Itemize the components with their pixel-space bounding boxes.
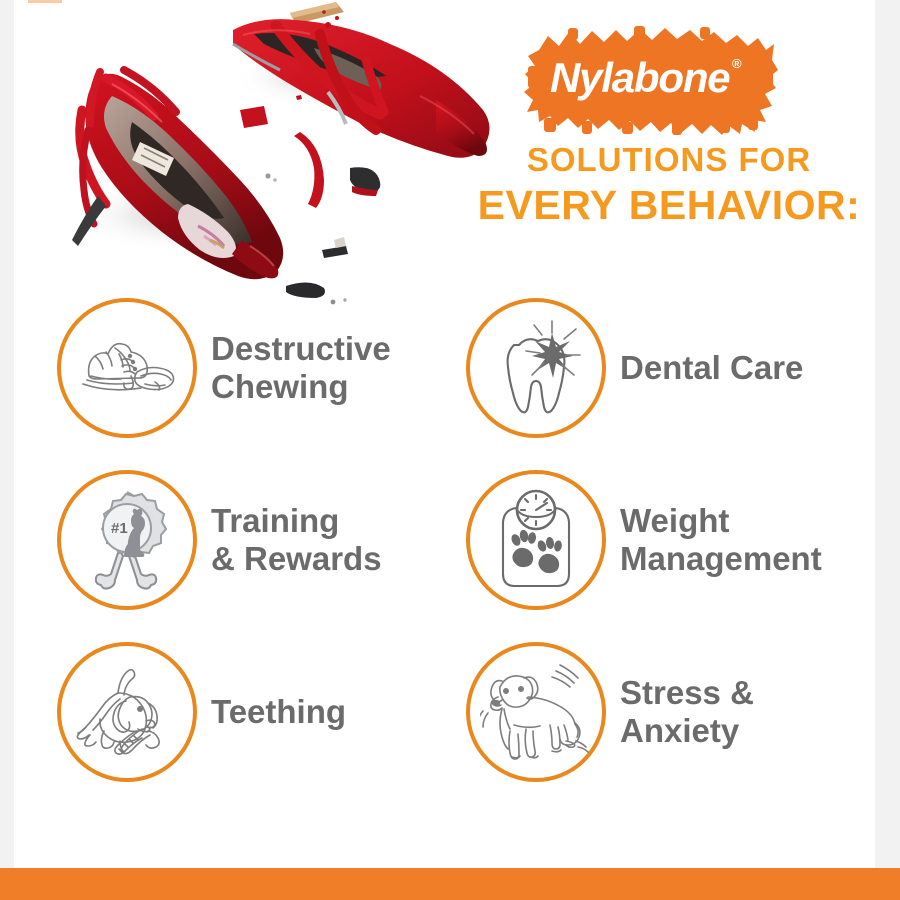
- top-orange-accent: [28, 0, 62, 3]
- rank-label: #1: [111, 520, 128, 537]
- benefit-destructive-chewing[interactable]: Destructive Chewing: [57, 298, 391, 438]
- content-card: Nylabone ® SOLUTIONS FOR EVERY BEHAVIOR:: [14, 0, 875, 868]
- benefit-icon-circle: [466, 298, 606, 438]
- headline-line-1: SOLUTIONS FOR: [444, 143, 894, 176]
- scale-dial: [517, 491, 555, 529]
- headline-line-2: EVERY BEHAVIOR:: [444, 185, 894, 226]
- benefit-label: Training & Rewards: [211, 502, 382, 578]
- puppy-chewing-icon: [74, 665, 180, 759]
- chewed-shoes-photo: [28, 0, 498, 310]
- benefit-icon-circle: [466, 470, 606, 610]
- footer-orange-bar: [0, 868, 900, 900]
- paw-prints: [510, 529, 563, 573]
- benefit-training-rewards[interactable]: #1 Training & Rewards: [57, 470, 382, 610]
- nylabone-logo: Nylabone ®: [522, 22, 780, 142]
- benefit-dental-care[interactable]: Dental Care: [466, 298, 803, 438]
- benefit-label: Weight Management: [620, 502, 822, 578]
- benefit-icon-circle: [466, 642, 606, 782]
- benefit-grid: Destructive Chewing: [28, 290, 894, 820]
- benefit-label: Teething: [211, 693, 346, 731]
- rosette-badge: #1: [102, 492, 166, 557]
- benefit-stress-anxiety[interactable]: Stress & Anxiety: [466, 642, 754, 782]
- sparkling-tooth-icon: [490, 319, 582, 417]
- benefit-weight-management[interactable]: Weight Management: [466, 470, 822, 610]
- benefit-label: Dental Care: [620, 349, 803, 387]
- benefit-label: Stress & Anxiety: [620, 674, 754, 750]
- logo-registered-mark: ®: [732, 56, 742, 71]
- benefit-teething[interactable]: Teething: [57, 642, 346, 782]
- benefit-icon-circle: [57, 642, 197, 782]
- page-title: SOLUTIONS FOR EVERY BEHAVIOR:: [444, 143, 894, 226]
- logo-wordmark: Nylabone: [550, 54, 730, 101]
- chew-toy: [115, 729, 159, 754]
- trembling-dog-icon: [480, 663, 592, 761]
- paw-scale-icon: [490, 488, 582, 592]
- left-gutter: [0, 0, 14, 868]
- chewed-shoe-icon: [75, 332, 179, 404]
- benefit-icon-circle: [57, 298, 197, 438]
- benefit-label: Destructive Chewing: [211, 330, 391, 406]
- benefit-icon-circle: #1: [57, 470, 197, 610]
- infographic-page: Nylabone ® SOLUTIONS FOR EVERY BEHAVIOR:: [0, 0, 900, 900]
- award-ribbon-dog-icon: #1: [75, 488, 179, 592]
- sparkle-star: [526, 321, 580, 378]
